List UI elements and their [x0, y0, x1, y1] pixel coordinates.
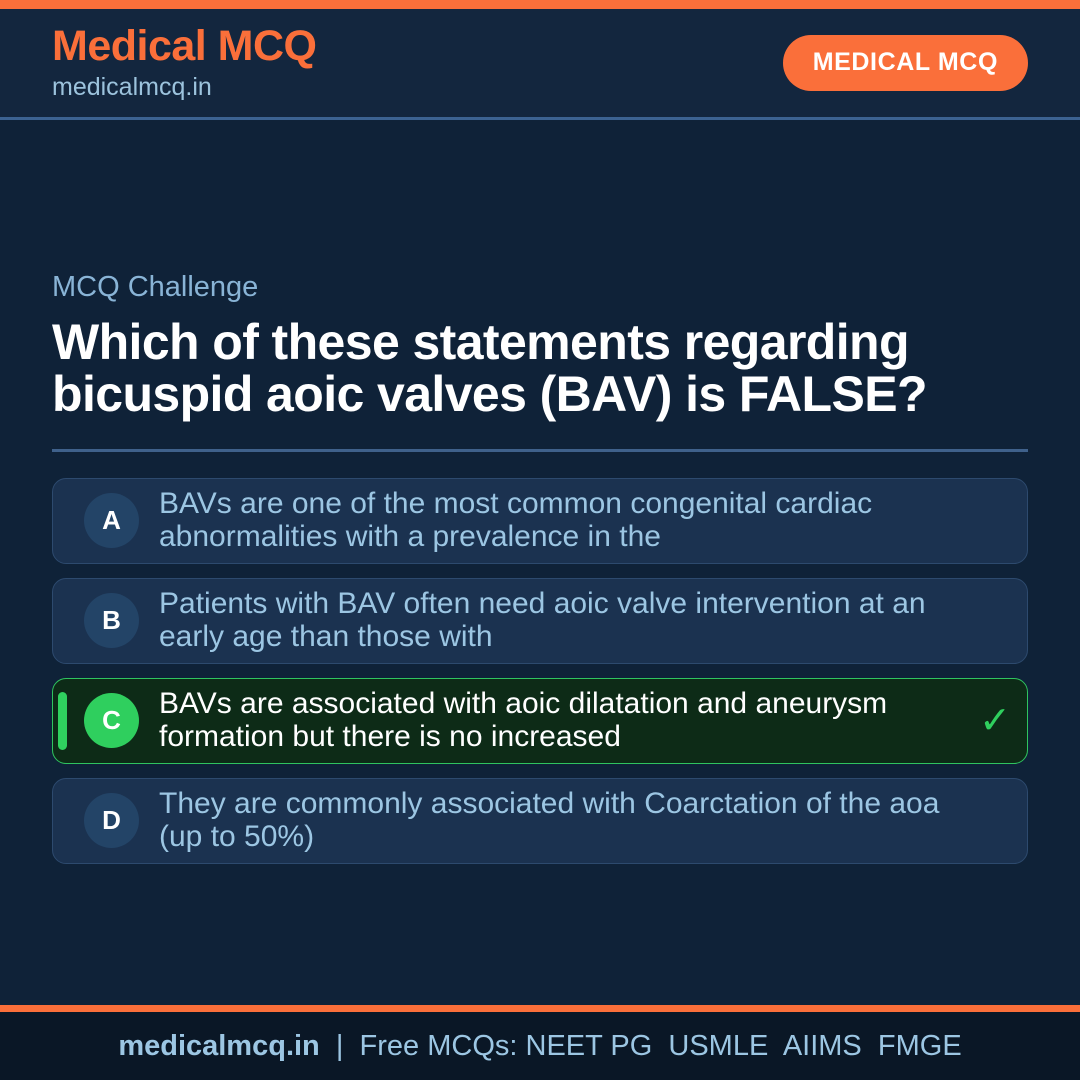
option-text: BAVs are one of the most common congenit…: [159, 488, 973, 553]
header: Medical MCQ medicalmcq.in MEDICAL MCQ: [0, 9, 1080, 120]
option-text: BAVs are associated with aoic dilatation…: [159, 688, 973, 753]
divider: [52, 449, 1028, 452]
mcq-card: Medical MCQ medicalmcq.in MEDICAL MCQ MC…: [0, 0, 1080, 1080]
check-icon: ✓: [979, 702, 1011, 740]
footer-separator: |: [320, 1032, 360, 1061]
footer-site[interactable]: medicalmcq.in: [118, 1032, 319, 1061]
question-title: Which of these statements regarding bicu…: [52, 316, 982, 421]
brand-subtitle: medicalmcq.in: [52, 72, 317, 102]
brand: Medical MCQ medicalmcq.in: [52, 24, 317, 103]
option-row-d[interactable]: D They are commonly associated with Coar…: [52, 778, 1028, 864]
footer-exams: Free MCQs: NEET PG USMLE AIIMS FMGE: [360, 1032, 962, 1061]
option-text: Patients with BAV often need aoic valve …: [159, 588, 973, 653]
option-row-a[interactable]: A BAVs are one of the most common congen…: [52, 478, 1028, 564]
brand-title: Medical MCQ: [52, 24, 317, 70]
question-block: MCQ Challenge Which of these statements …: [52, 270, 1028, 421]
options-list: A BAVs are one of the most common congen…: [52, 478, 1028, 864]
option-row-b[interactable]: B Patients with BAV often need aoic valv…: [52, 578, 1028, 664]
top-accent-bar: [0, 0, 1080, 9]
option-letter-badge: C: [84, 693, 139, 748]
main-content: MCQ Challenge Which of these statements …: [0, 120, 1080, 1005]
correct-accent-bar: [58, 692, 67, 750]
option-row-c[interactable]: C BAVs are associated with aoic dilatati…: [52, 678, 1028, 764]
question-kicker: MCQ Challenge: [52, 270, 1028, 305]
footer: medicalmcq.in | Free MCQs: NEET PG USMLE…: [0, 1012, 1080, 1080]
option-text: They are commonly associated with Coarct…: [159, 788, 973, 853]
option-letter-badge: A: [84, 493, 139, 548]
option-letter-badge: B: [84, 593, 139, 648]
footer-accent-bar: [0, 1005, 1080, 1012]
option-letter-badge: D: [84, 793, 139, 848]
header-badge[interactable]: MEDICAL MCQ: [783, 35, 1028, 91]
